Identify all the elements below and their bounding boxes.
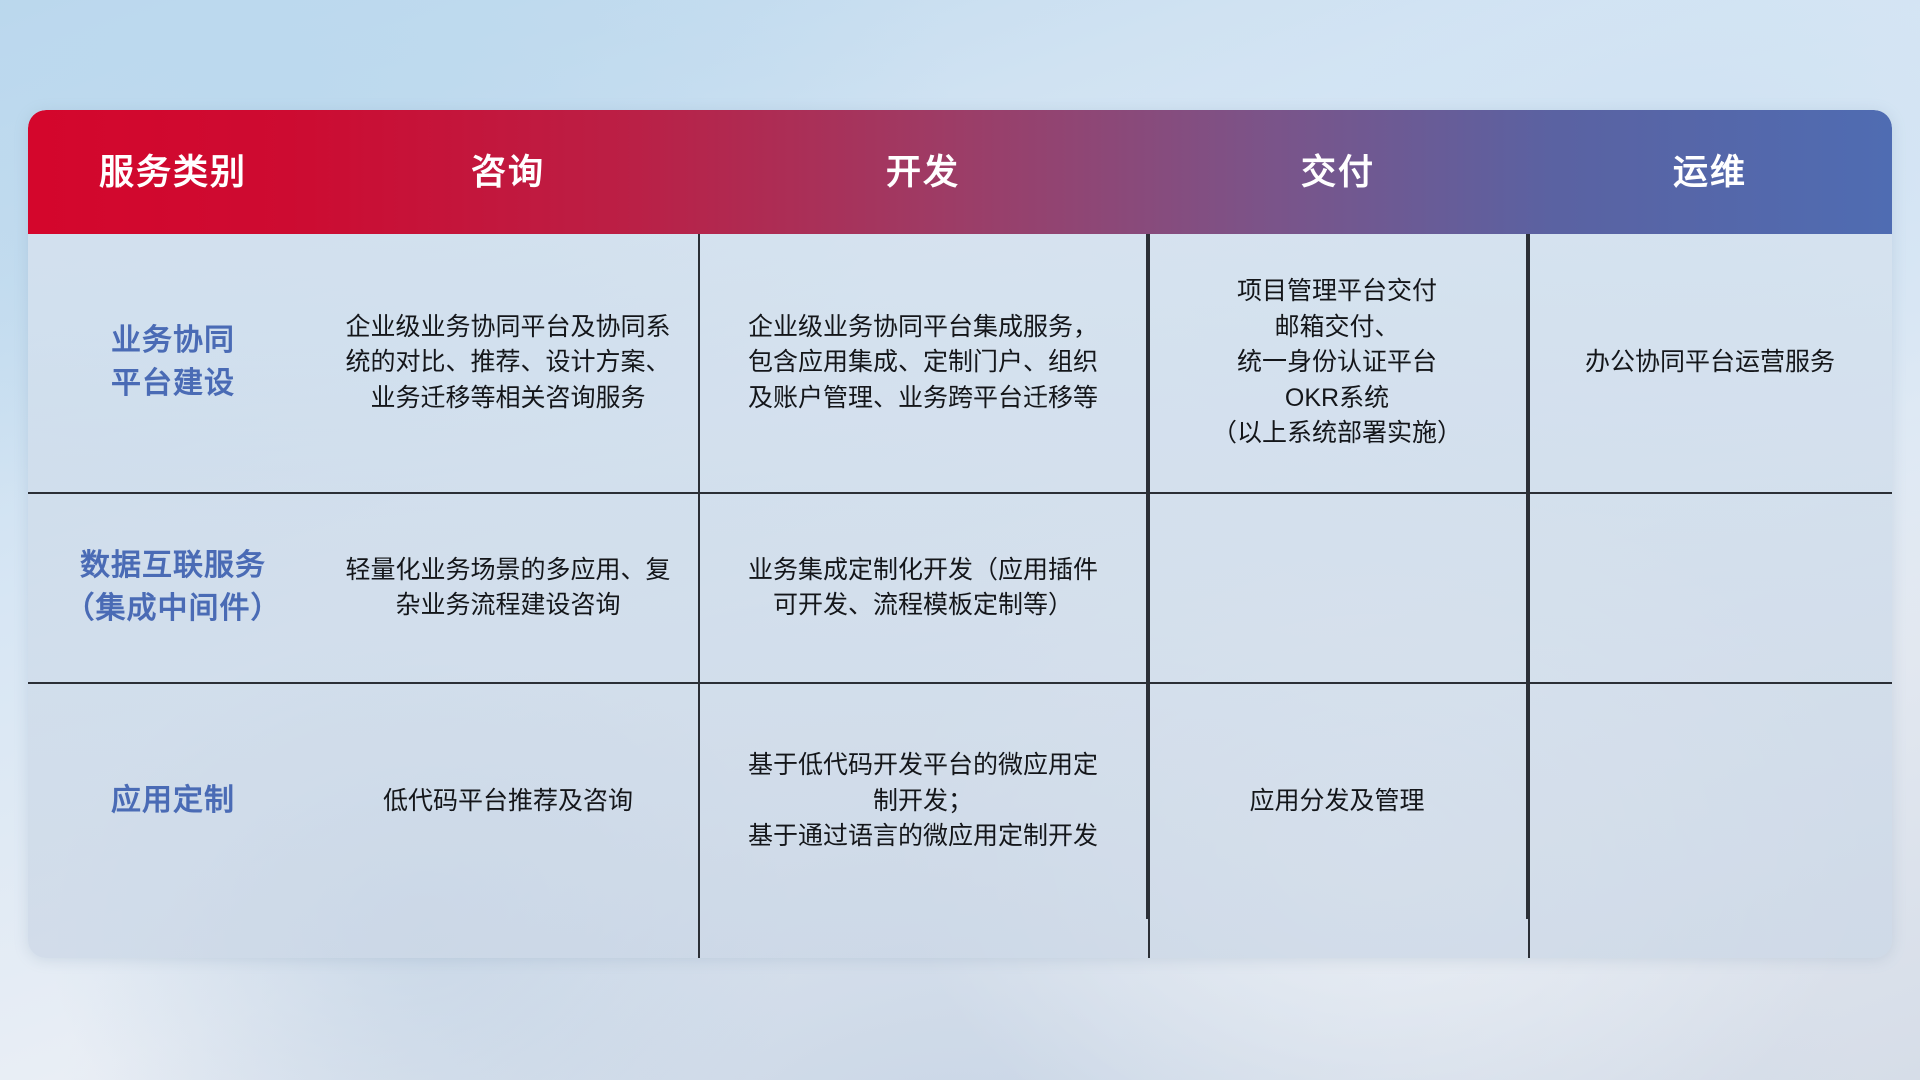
- cell-category-2: 数据互联服务 （集成中间件）: [28, 494, 318, 682]
- column-header-delivery: 交付: [1148, 155, 1528, 190]
- cell-development-1: 企业级业务协同平台集成服务， 包含应用集成、定制门户、组织 及账户管理、业务跨平…: [698, 234, 1148, 492]
- table-row: 应用定制 低代码平台推荐及咨询 基于低代码开发平台的微应用定 制开发； 基于通过…: [28, 684, 1892, 919]
- column-header-development: 开发: [698, 155, 1148, 190]
- cell-operations-2: [1528, 494, 1892, 682]
- service-matrix-table: 服务类别 咨询 开发 交付 运维 业务协同 平台建设 企业级业务协同平台及协同系…: [28, 110, 1892, 958]
- cell-consulting-1: 企业级业务协同平台及协同系 统的对比、推荐、设计方案、 业务迁移等相关咨询服务: [318, 234, 698, 492]
- cell-delivery-1: 项目管理平台交付 邮箱交付、 统一身份认证平台 OKR系统 （以上系统部署实施）: [1148, 234, 1528, 492]
- cell-operations-3: [1528, 684, 1892, 919]
- cell-development-2: 业务集成定制化开发（应用插件 可开发、流程模板定制等）: [698, 494, 1148, 682]
- table-panel: 服务类别 咨询 开发 交付 运维 业务协同 平台建设 企业级业务协同平台及协同系…: [28, 110, 1892, 958]
- cell-consulting-2: 轻量化业务场景的多应用、复 杂业务流程建设咨询: [318, 494, 698, 682]
- column-divider-consulting-development: [698, 234, 700, 958]
- table-row: 业务协同 平台建设 企业级业务协同平台及协同系 统的对比、推荐、设计方案、 业务…: [28, 234, 1892, 494]
- column-divider-development-delivery: [1148, 234, 1150, 958]
- column-header-category: 服务类别: [28, 155, 318, 190]
- cell-development-3: 基于低代码开发平台的微应用定 制开发； 基于通过语言的微应用定制开发: [698, 684, 1148, 919]
- column-divider-delivery-operations: [1528, 234, 1530, 958]
- table-row: 数据互联服务 （集成中间件） 轻量化业务场景的多应用、复 杂业务流程建设咨询 业…: [28, 494, 1892, 684]
- table-body: 业务协同 平台建设 企业级业务协同平台及协同系 统的对比、推荐、设计方案、 业务…: [28, 234, 1892, 958]
- cell-consulting-3: 低代码平台推荐及咨询: [318, 684, 698, 919]
- cell-delivery-3: 应用分发及管理: [1148, 684, 1528, 919]
- cell-category-3: 应用定制: [28, 684, 318, 919]
- cell-operations-1: 办公协同平台运营服务: [1528, 234, 1892, 492]
- column-header-operations: 运维: [1528, 155, 1892, 190]
- column-header-consulting: 咨询: [318, 155, 698, 190]
- cell-category-1: 业务协同 平台建设: [28, 234, 318, 492]
- table-header-row: 服务类别 咨询 开发 交付 运维: [28, 110, 1892, 234]
- cell-delivery-2: [1148, 494, 1528, 682]
